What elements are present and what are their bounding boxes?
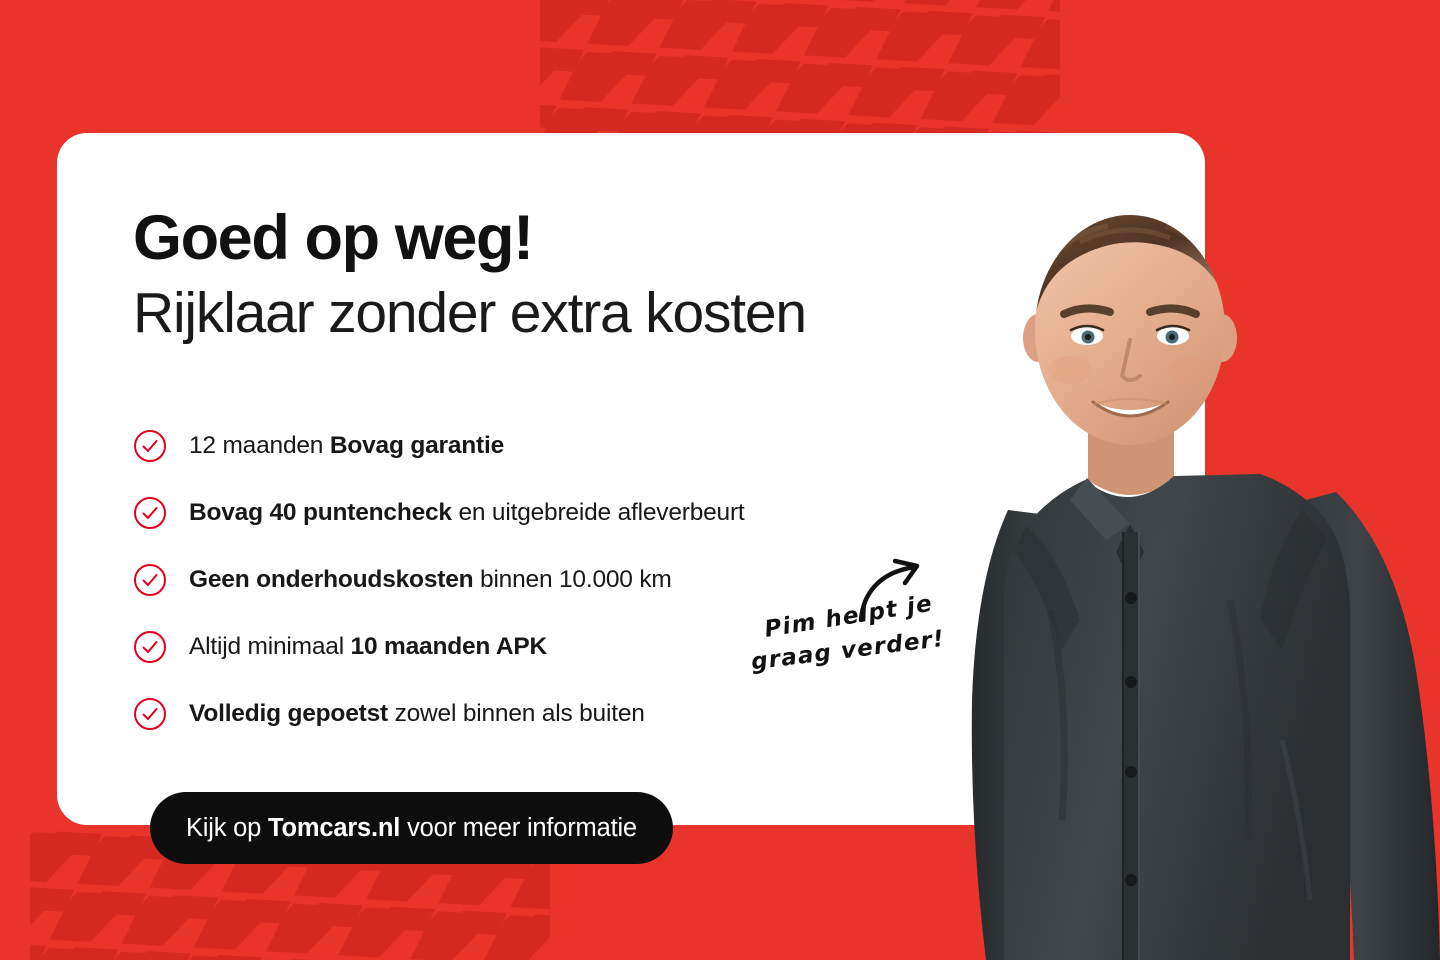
check-circle-icon (133, 630, 167, 664)
promo-banner: Goed op weg! Rijklaar zonder extra koste… (0, 0, 1440, 960)
tire-tread-pattern-top (540, 0, 1060, 140)
cta-post: voor meer informatie (400, 814, 637, 842)
check-circle-icon (133, 563, 167, 597)
list-item-label: Altijd minimaal 10 maanden APK (189, 632, 547, 661)
cta-button[interactable]: Kijk op Tomcars.nl voor meer informatie (150, 792, 673, 864)
list-item-label: Bovag 40 puntencheck en uitgebreide afle… (189, 498, 745, 527)
page-title: Goed op weg! (133, 207, 533, 270)
check-circle-icon (133, 429, 167, 463)
page-subtitle: Rijklaar zonder extra kosten (133, 284, 806, 344)
check-circle-icon (133, 496, 167, 530)
cta-button-label: Kijk op Tomcars.nl voor meer informatie (186, 814, 637, 843)
list-item: Volledig gepoetst zowel binnen als buite… (133, 688, 893, 740)
list-item-pre: 12 maanden (189, 432, 330, 459)
list-item-label: Volledig gepoetst zowel binnen als buite… (189, 699, 645, 728)
list-item-post: binnen 10.000 km (473, 566, 671, 593)
list-item-bold: Geen onderhoudskosten (189, 566, 473, 593)
list-item-post: en uitgebreide afleverbeurt (452, 499, 745, 526)
list-item: Altijd minimaal 10 maanden APK (133, 621, 893, 673)
pim-portrait (930, 180, 1440, 960)
cta-pre: Kijk op (186, 814, 268, 842)
benefits-list: 12 maanden Bovag garantie Bovag 40 punte… (133, 420, 893, 755)
list-item-label: Geen onderhoudskosten binnen 10.000 km (189, 565, 672, 594)
list-item: Geen onderhoudskosten binnen 10.000 km (133, 554, 893, 606)
check-circle-icon (133, 697, 167, 731)
list-item: Bovag 40 puntencheck en uitgebreide afle… (133, 487, 893, 539)
list-item-label: 12 maanden Bovag garantie (189, 431, 504, 460)
list-item-bold: Bovag 40 puntencheck (189, 499, 452, 526)
cta-brand: Tomcars.nl (268, 814, 400, 842)
curved-arrow-up-right-icon (855, 558, 935, 628)
list-item-pre: Altijd minimaal (189, 633, 351, 660)
list-item-bold: Bovag garantie (330, 432, 504, 459)
list-item: 12 maanden Bovag garantie (133, 420, 893, 472)
list-item-bold: Volledig gepoetst (189, 700, 388, 727)
list-item-post: zowel binnen als buiten (388, 700, 645, 727)
list-item-bold: 10 maanden APK (351, 633, 547, 660)
